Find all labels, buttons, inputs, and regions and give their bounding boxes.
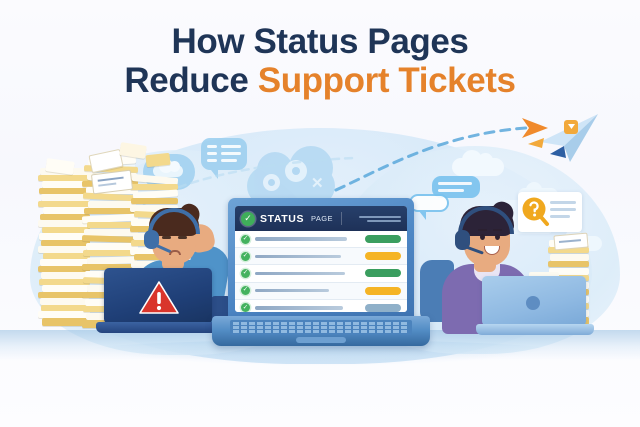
status-row-label — [255, 289, 329, 292]
status-row[interactable]: ✓ — [235, 231, 407, 248]
status-page-app: ✓ STATUS PAGE ✓✓✓✓✓ — [235, 206, 407, 312]
status-row-pill[interactable] — [365, 235, 401, 243]
check-circle-icon: ✓ — [241, 269, 250, 278]
agent-eyebrow — [493, 229, 502, 231]
status-page-header-meta — [359, 216, 401, 222]
paper-plane-icon — [520, 108, 605, 170]
check-circle-icon: ✓ — [241, 303, 250, 312]
title-line-2: Reduce Support Tickets — [0, 61, 640, 100]
flying-ticket — [145, 153, 170, 167]
download-circle-icon: ✓ — [241, 212, 255, 226]
laptop-base — [212, 316, 430, 346]
laptop-trackpad — [296, 337, 346, 343]
status-row[interactable]: ✓ — [235, 265, 407, 282]
agent-eye — [162, 236, 171, 239]
status-row-pill[interactable] — [365, 252, 401, 260]
status-row-pill[interactable] — [365, 304, 401, 312]
laptop-keyboard — [230, 320, 412, 335]
check-circle-icon: ✓ — [241, 252, 250, 261]
laptop-screen-bezel: ✓ STATUS PAGE ✓✓✓✓✓ — [228, 198, 414, 320]
right-laptop — [476, 276, 594, 338]
agent-eye — [178, 236, 187, 239]
banner-title: How Status Pages Reduce Support Tickets — [0, 22, 640, 100]
status-page-header: ✓ STATUS PAGE — [235, 206, 407, 231]
status-row-label — [255, 272, 345, 275]
status-row-label — [255, 237, 347, 240]
title-line-2-accent: Support Tickets — [258, 61, 516, 100]
agent-eye — [495, 234, 500, 240]
status-row[interactable]: ✓ — [235, 248, 407, 265]
status-page-title: STATUS — [260, 213, 304, 225]
status-row-label — [255, 255, 341, 258]
agent-eyebrow — [478, 229, 487, 231]
check-circle-icon: ✓ — [241, 235, 250, 244]
status-row[interactable]: ✓ — [235, 300, 407, 312]
right-laptop-base — [476, 324, 594, 335]
illustration-canvas: ✕ ✕ — [0, 0, 640, 427]
title-line-2-prefix: Reduce — [124, 61, 257, 100]
status-row-label — [255, 306, 343, 309]
check-circle-icon: ✓ — [241, 286, 250, 295]
agent-mouth — [169, 250, 181, 255]
header-divider — [341, 212, 342, 225]
status-page-laptop: ✓ STATUS PAGE ✓✓✓✓✓ — [212, 198, 430, 348]
left-laptop-base — [96, 322, 218, 333]
right-laptop-logo — [526, 296, 540, 310]
status-row-pill[interactable] — [365, 269, 401, 277]
status-row-pill[interactable] — [365, 287, 401, 295]
cloud-icon — [452, 158, 504, 176]
title-line-1: How Status Pages — [0, 22, 640, 61]
agent-eye — [480, 234, 485, 240]
status-row[interactable]: ✓ — [235, 283, 407, 300]
warning-triangle-icon — [138, 280, 180, 316]
left-laptop — [96, 268, 218, 336]
status-page-title-sub: PAGE — [311, 214, 333, 223]
ticket-note — [553, 233, 588, 251]
status-row-list: ✓✓✓✓✓ — [235, 231, 407, 312]
